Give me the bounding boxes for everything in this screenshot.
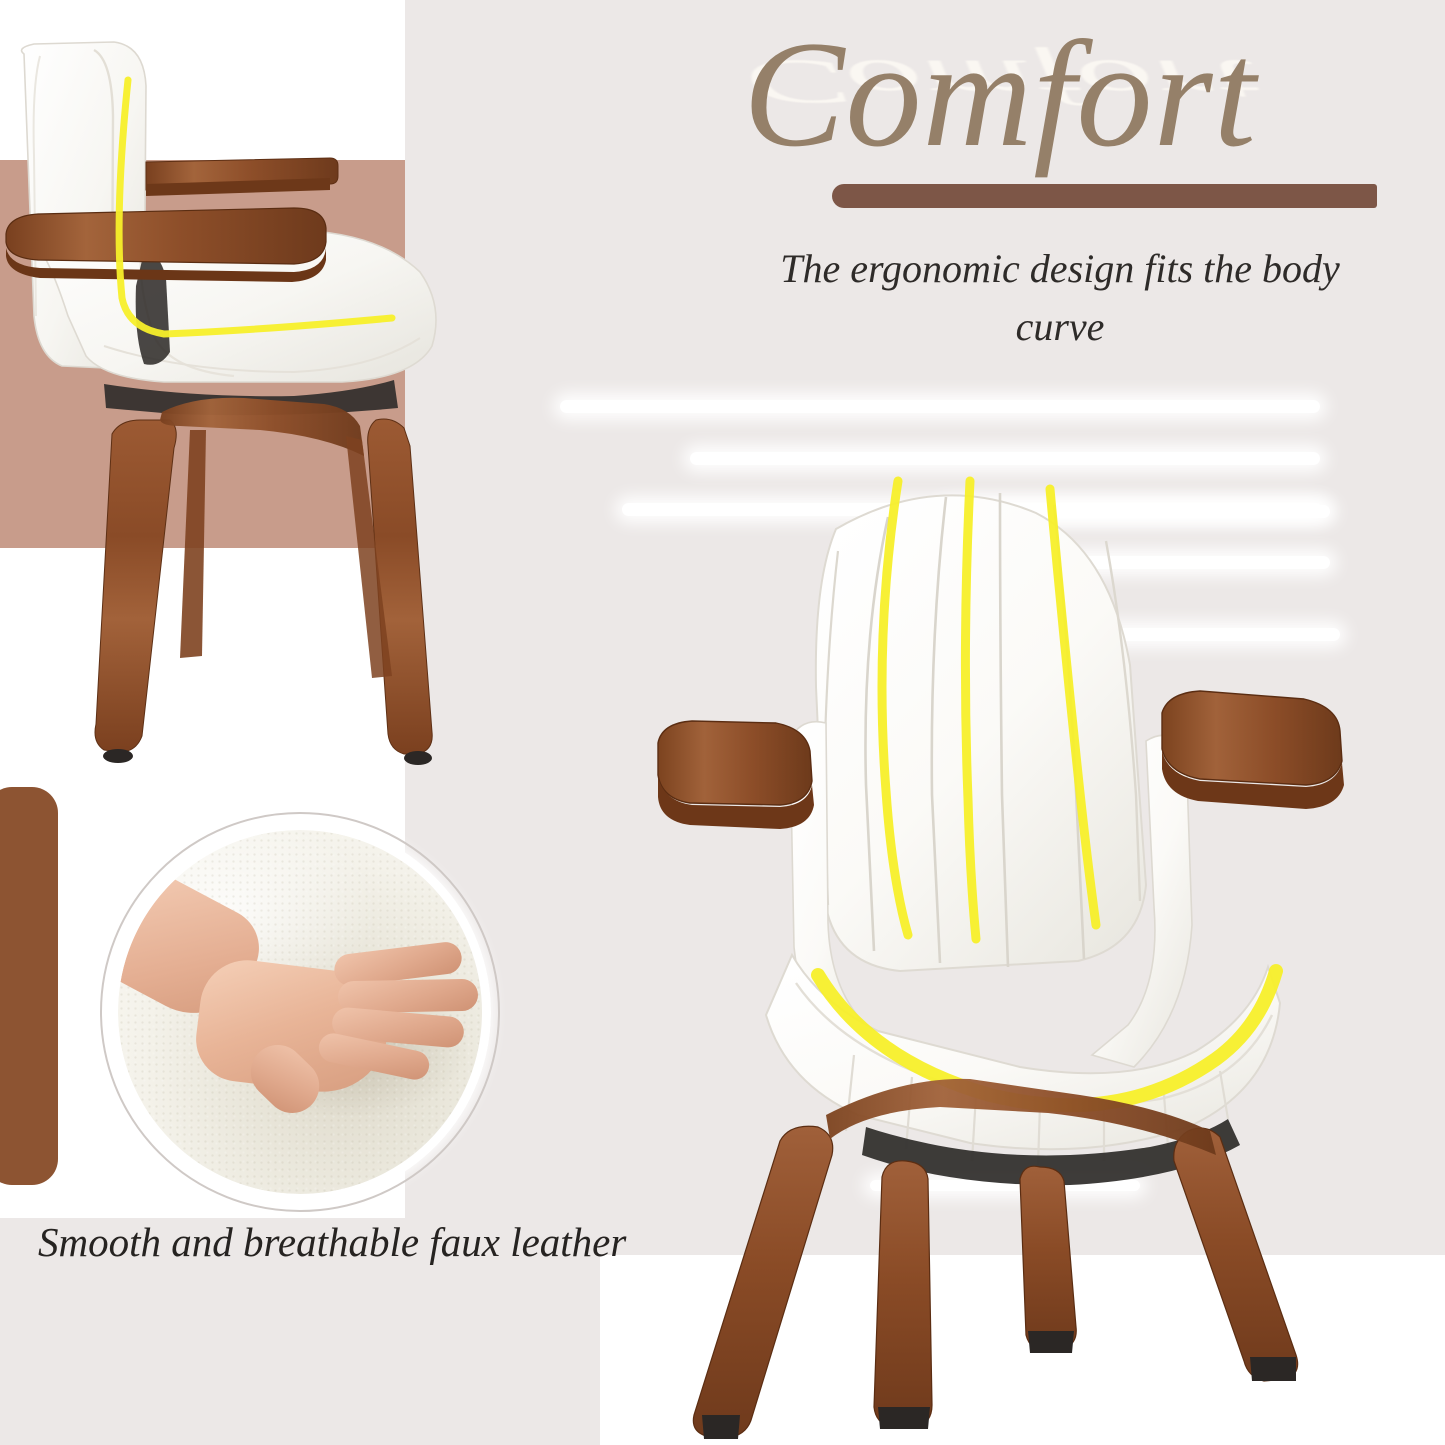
chair-main-image (640, 455, 1360, 1440)
circle-outline-ring (100, 812, 500, 1212)
product-infographic: Comfort Comfort The ergonomic design fit… (0, 0, 1445, 1445)
subtitle-text: The ergonomic design fits the body curve (760, 240, 1360, 356)
title-block: Comfort Comfort (600, 18, 1400, 193)
chair-side-view-image (0, 16, 464, 786)
title-underline-bar (832, 184, 1377, 208)
speed-line (560, 400, 1320, 413)
page-title: Comfort (600, 18, 1400, 170)
brown-accent-tab (0, 787, 58, 1185)
caption-faux-leather: Smooth and breathable faux leather (38, 1218, 626, 1266)
foam-detail-circle (100, 812, 500, 1212)
